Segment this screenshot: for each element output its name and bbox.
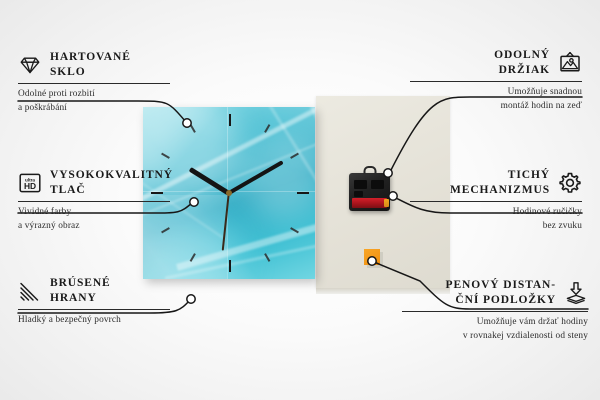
feature-header: TICHÝ MECHANIZMUS: [392, 168, 582, 198]
feature-divider: [410, 81, 582, 82]
feature-divider: [18, 83, 170, 84]
ultra-hd-icon: ultra HD: [18, 171, 42, 195]
feature-title: BRÚSENÉ HRANY: [50, 276, 111, 306]
feature-description: Umožňuje vám držať hodiny v rovnakej vzd…: [392, 316, 588, 342]
feature-title: TICHÝ MECHANIZMUS: [450, 168, 550, 198]
feature-beveled-edges: BRÚSENÉ HRANY Hladký a bezpečný povrch: [18, 276, 188, 328]
picture-frame-icon: [558, 51, 582, 75]
feature-divider: [402, 311, 588, 312]
feature-description: Umožňuje snadnou montáž hodin na zeď: [392, 86, 582, 112]
feature-description: Odolné proti rozbití a poškrábání: [18, 88, 188, 114]
feature-divider: [18, 201, 170, 202]
infographic-canvas: HARTOVANÉ SKLO Odolné proti rozbití a po…: [0, 0, 600, 400]
beveled-edge-icon: [18, 279, 42, 303]
feature-header: ultra HD VYSOKOKVALITNÝ TLAČ: [18, 168, 188, 198]
feature-title: PENOVÝ DISTAN- ČNÍ PODLOŽKY: [446, 278, 556, 308]
feature-header: ODOLNÝ DRŽIAK: [392, 48, 582, 78]
connector-node-2: [190, 198, 198, 206]
feature-divider: [410, 201, 582, 202]
feature-durable-hanger: ODOLNÝ DRŽIAK Umožňuje snadnou montáž ho…: [392, 48, 582, 113]
connector-node-6: [368, 257, 376, 265]
feature-tempered-glass: HARTOVANÉ SKLO Odolné proti rozbití a po…: [18, 50, 188, 115]
connector-node-3: [187, 295, 195, 303]
feature-foam-spacers: PENOVÝ DISTAN- ČNÍ PODLOŽKY Umožňuje vám…: [392, 278, 588, 343]
feature-title: VYSOKOKVALITNÝ TLAČ: [50, 168, 173, 198]
connector-node-1: [183, 119, 191, 127]
feature-title: ODOLNÝ DRŽIAK: [494, 48, 550, 78]
feature-header: HARTOVANÉ SKLO: [18, 50, 188, 80]
feature-header: BRÚSENÉ HRANY: [18, 276, 188, 306]
feature-high-quality-print: ultra HD VYSOKOKVALITNÝ TLAČ Vividné far…: [18, 168, 188, 233]
feature-description: Vividné farby a výrazný obraz: [18, 206, 188, 232]
feature-divider: [18, 309, 170, 310]
feature-title: HARTOVANÉ SKLO: [50, 50, 131, 80]
gear-icon: [558, 171, 582, 195]
diamond-icon: [18, 53, 42, 77]
feature-description: Hladký a bezpečný povrch: [18, 314, 188, 327]
foam-spacer-icon: [564, 281, 588, 305]
feature-silent-mechanism: TICHÝ MECHANIZMUS Hodinové ručičky bez z…: [392, 168, 582, 233]
feature-description: Hodinové ručičky bez zvuku: [392, 206, 582, 232]
connector-node-4: [384, 169, 392, 177]
feature-header: PENOVÝ DISTAN- ČNÍ PODLOŽKY: [392, 278, 588, 308]
svg-text:HD: HD: [24, 181, 36, 191]
